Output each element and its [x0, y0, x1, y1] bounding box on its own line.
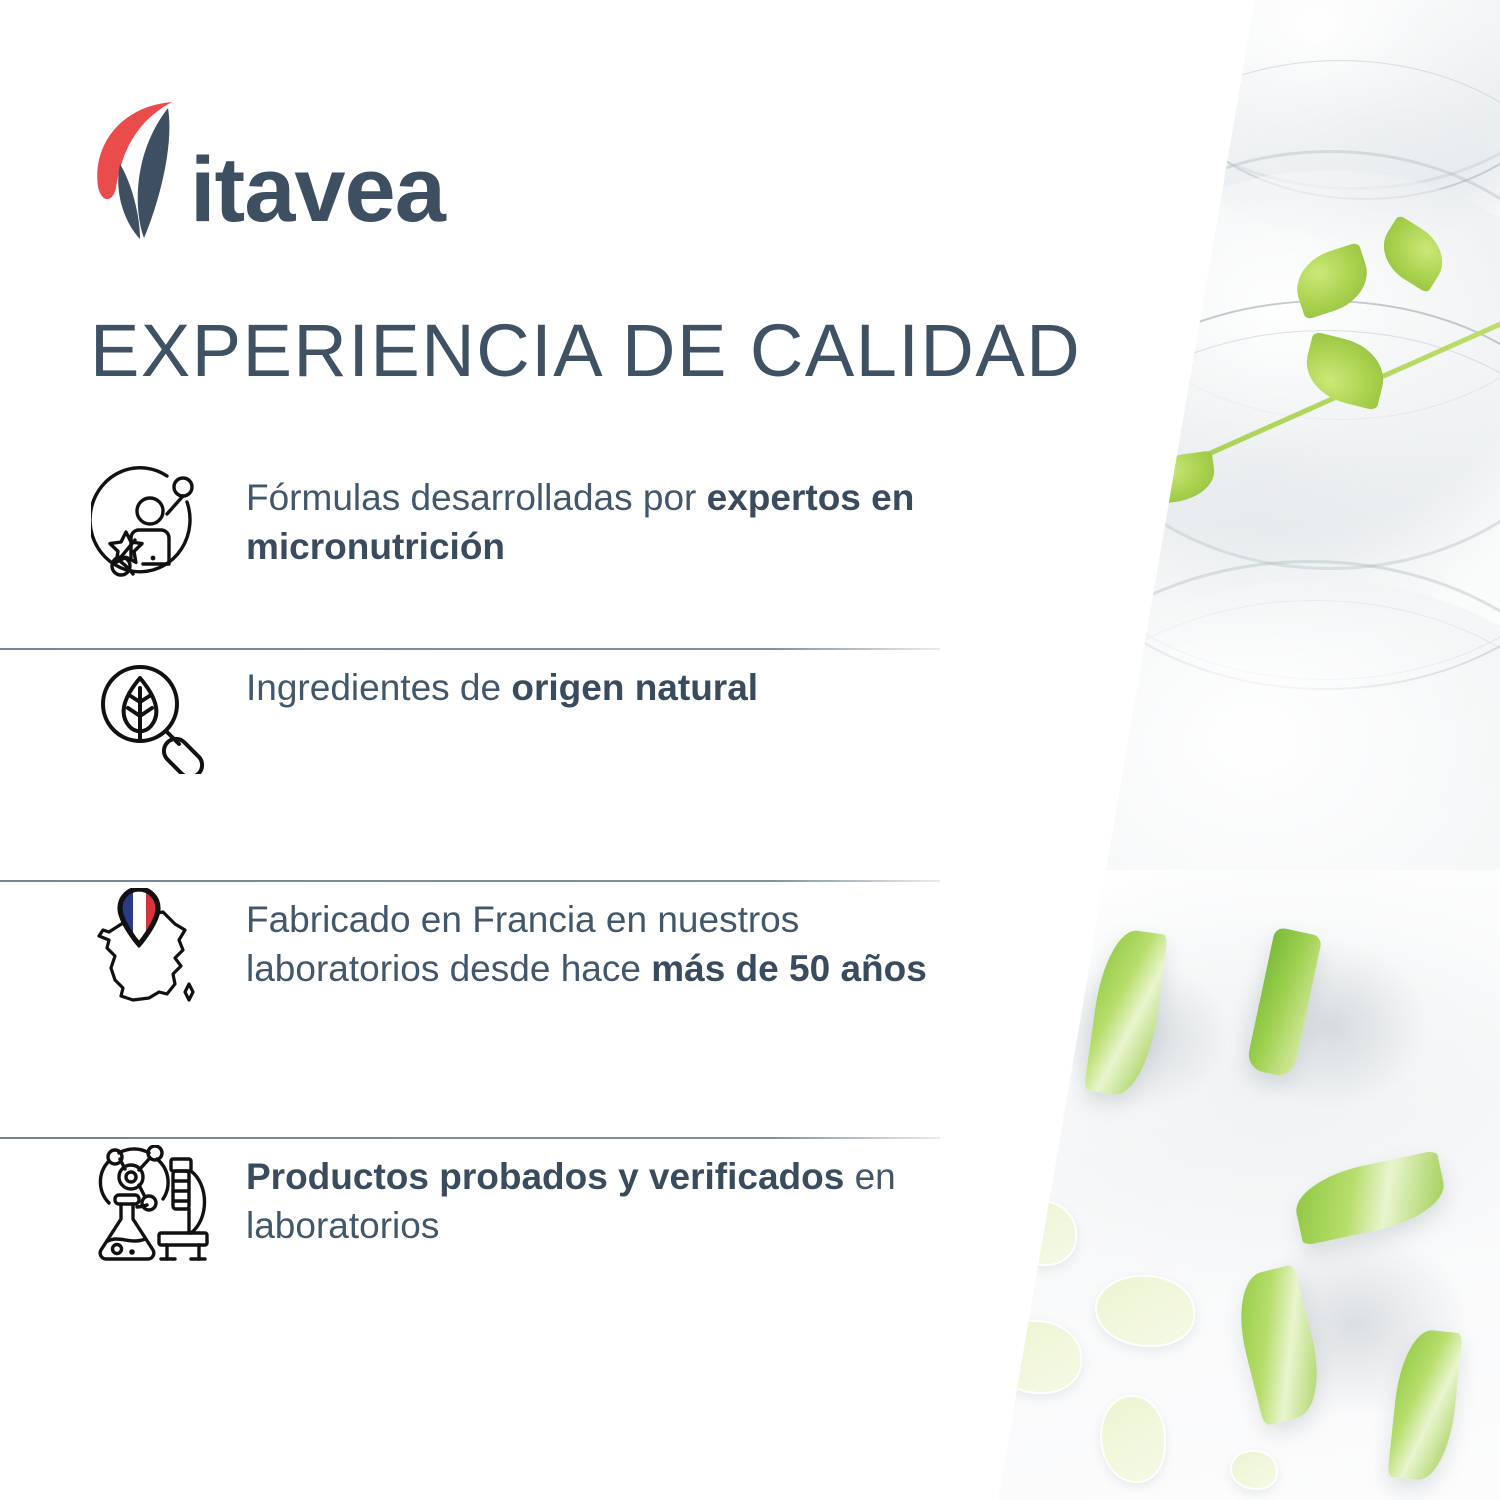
plant-leaf [1084, 481, 1154, 542]
magnifier-leaf-icon [84, 650, 216, 774]
infographic-canvas: itavea EXPERIENCIA DE CALIDAD [0, 0, 1500, 1500]
product-photo-panel [940, 0, 1500, 1500]
feature-text-natural: Ingredientes de origen natural [216, 650, 945, 713]
brand-wordmark: itavea [190, 144, 445, 236]
france-map-flag-pin-icon [84, 882, 216, 1010]
feature-row-tested: Productos probados y verificados en labo… [0, 1139, 945, 1339]
feature-row-experts: Fórmulas desarrolladas por expertos en m… [0, 460, 945, 648]
feature-row-natural: Ingredientes de origen natural [0, 650, 945, 880]
microscope-flask-molecule-icon [84, 1139, 216, 1265]
feature-text-france: Fabricado en Francia en nuestros laborat… [216, 882, 945, 994]
feature-text-experts: Fórmulas desarrolladas por expertos en m… [216, 460, 945, 572]
gel-droplet [1230, 1450, 1278, 1490]
brand-logo[interactable]: itavea [88, 92, 445, 242]
feature-row-france: Fabricado en Francia en nuestros laborat… [0, 882, 945, 1137]
gel-droplet [990, 1320, 1082, 1394]
vitavea-leaf-swoosh-icon [88, 92, 200, 242]
feature-text-bold: origen natural [511, 667, 758, 708]
feature-list: Fórmulas desarrolladas por expertos en m… [0, 460, 945, 1339]
feature-text-light: Fórmulas desarrolladas por [246, 477, 707, 518]
feature-text-bold: más de 50 años [651, 948, 927, 989]
expert-person-star-orbit-icon [84, 460, 216, 584]
page-title: EXPERIENCIA DE CALIDAD [90, 308, 1081, 393]
photo-inner [940, 0, 1500, 1500]
gel-droplet [1005, 1200, 1077, 1266]
feature-text-light: Ingredientes de [246, 667, 511, 708]
feature-text-bold: Productos probados y verificados [246, 1156, 844, 1197]
feature-text-tested: Productos probados y verificados en labo… [216, 1139, 945, 1251]
